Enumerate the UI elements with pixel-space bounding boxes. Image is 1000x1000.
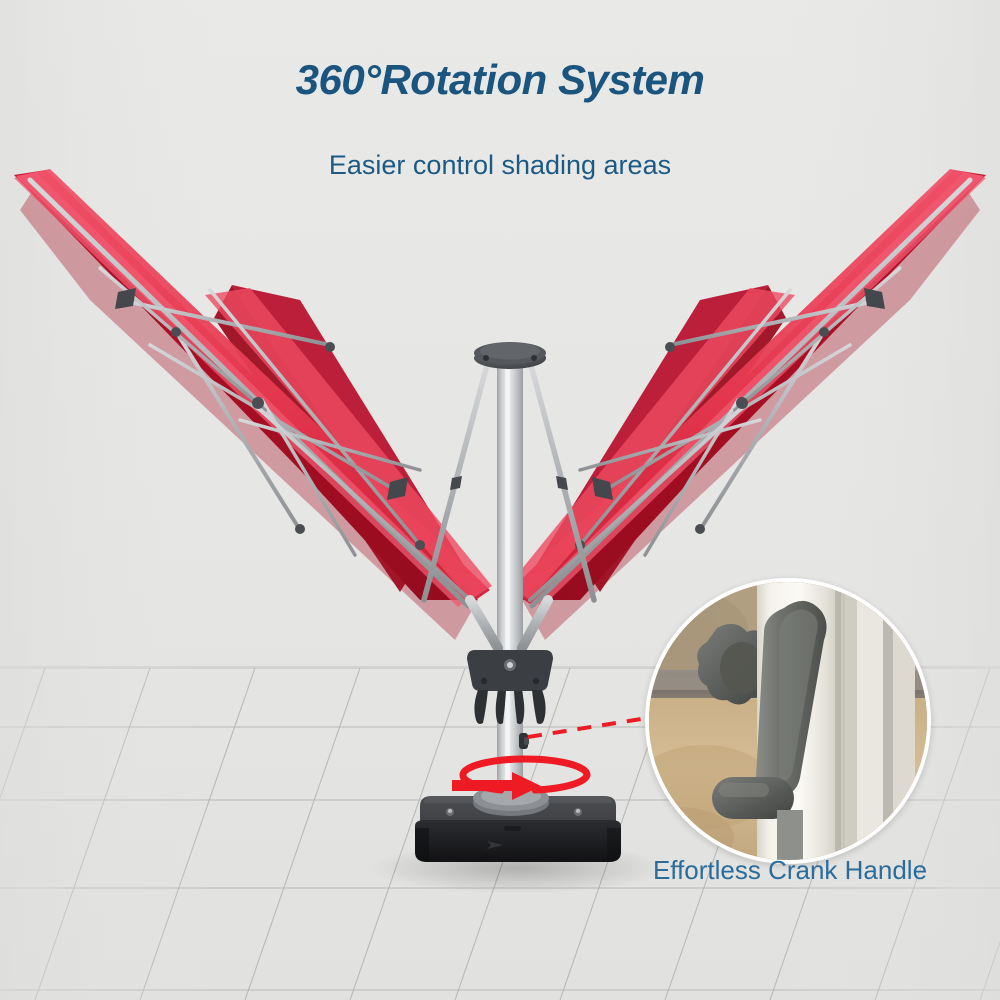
crank-handle-inset xyxy=(645,578,931,864)
crank-knob xyxy=(519,733,529,749)
page-title: 360°Rotation System xyxy=(0,56,1000,104)
product-marketing-image: 360°Rotation System Easier control shadi… xyxy=(0,0,1000,1000)
canopy-left xyxy=(14,169,492,640)
page-subtitle: Easier control shading areas xyxy=(0,150,1000,181)
pole-top-cap xyxy=(474,342,546,369)
inset-caption: Effortless Crank Handle xyxy=(600,855,980,886)
canopy-right xyxy=(508,169,986,640)
leader-line xyxy=(528,716,660,737)
